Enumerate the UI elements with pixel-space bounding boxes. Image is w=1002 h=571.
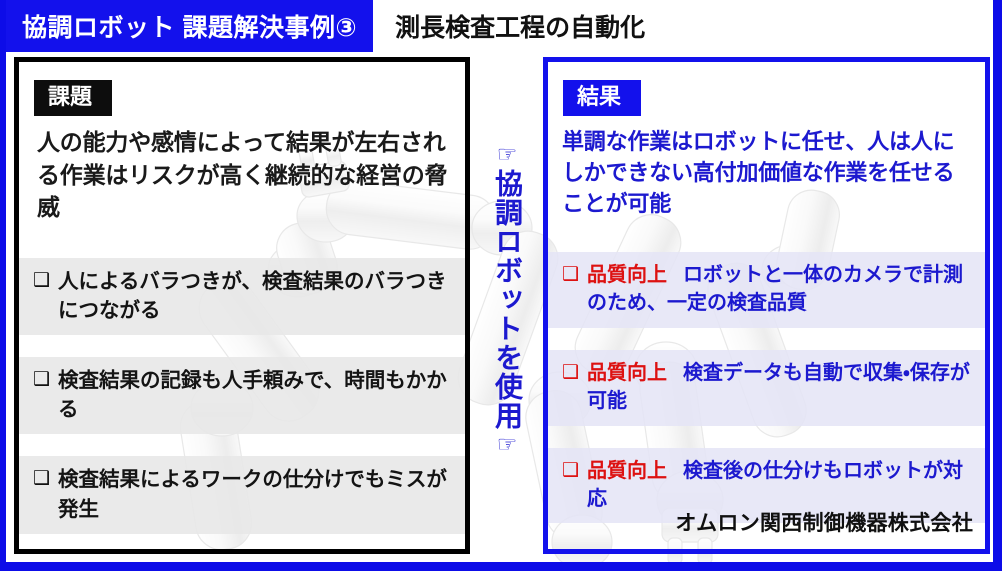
center-vertical-label: 協調ロボットを使用 [492,169,522,430]
checkbox-square-icon: ❑ [562,359,579,388]
list-item: ❑ 品質向上ロボットと一体のカメラで計測のため、一定の検査品質 [548,252,985,328]
list-item-label: 人によるバラつきが、検査結果のバラつきにつながる [58,267,455,325]
checkbox-square-icon: ❑ [33,267,50,296]
checkbox-square-icon: ❑ [33,366,50,395]
list-item: ❑ 品質向上検査データも自動で収集・保存が可能 [548,350,985,426]
checkbox-square-icon: ❑ [562,457,579,486]
list-item-body: 品質向上検査データも自動で収集・保存が可能 [587,359,975,416]
checkbox-square-icon: ❑ [33,465,50,494]
center-connector-strip: ☞ 協調ロボットを使用 ☞ [476,143,538,456]
list-item-kpi-label: 品質向上 [587,460,667,482]
result-bullet-list: ❑ 品質向上ロボットと一体のカメラで計測のため、一定の検査品質 ❑ 品質向上検査… [548,252,985,545]
list-item-label: 検査結果によるワークの仕分けでもミスが発生 [58,465,455,523]
issue-panel: 課題 人の能力や感情によって結果が左右される作業はリスクが高く継続的な経営の脅威… [14,57,470,554]
list-item: ❑ 検査結果の記録も人手頼みで、時間もかかる [19,357,465,434]
list-item-body: 品質向上検査後の仕分けもロボットが対応 [587,457,975,514]
list-item-kpi-label: 品質向上 [587,264,667,286]
company-name: オムロン関西制御機器株式会社 [675,507,973,537]
checkbox-square-icon: ❑ [562,261,579,290]
page-title: 測長検査工程の自動化 [373,0,645,52]
result-panel: 結果 単調な作業はロボットに任せ、人は人にしかできない高付加価値な作業を任せるこ… [543,57,990,554]
issue-panel-lead-text: 人の能力や感情によって結果が左右される作業はリスクが高く継続的な経営の脅威 [37,126,455,224]
issue-panel-chip: 課題 [34,80,112,116]
pointing-hand-icon-bottom: ☞ [497,433,518,456]
pointing-hand-icon-top: ☞ [497,143,518,166]
slide-root: 協調ロボット 課題解決事例③ 測長検査工程の自動化 課題 人の能力や感情によって… [0,0,1002,571]
slide-header: 協調ロボット 課題解決事例③ 測長検査工程の自動化 [0,0,1002,52]
result-panel-lead-text: 単調な作業はロボットに任せ、人は人にしかできない高付加価値な作業を任せることが可… [562,126,972,220]
issue-bullet-list: ❑ 人によるバラつきが、検査結果のバラつきにつながる ❑ 検査結果の記録も人手頼… [19,258,465,554]
list-item-body: 品質向上ロボットと一体のカメラで計測のため、一定の検査品質 [587,261,975,318]
list-item: ❑ 検査結果によるワークの仕分けでもミスが発生 [19,456,465,533]
list-item-kpi-label: 品質向上 [587,362,667,384]
list-item-label: 検査結果の記録も人手頼みで、時間もかかる [58,366,455,424]
result-panel-chip: 結果 [563,80,641,116]
list-item: ❑ 人によるバラつきが、検査結果のバラつきにつながる [19,258,465,335]
header-tag-label: 協調ロボット 課題解決事例③ [0,0,373,52]
